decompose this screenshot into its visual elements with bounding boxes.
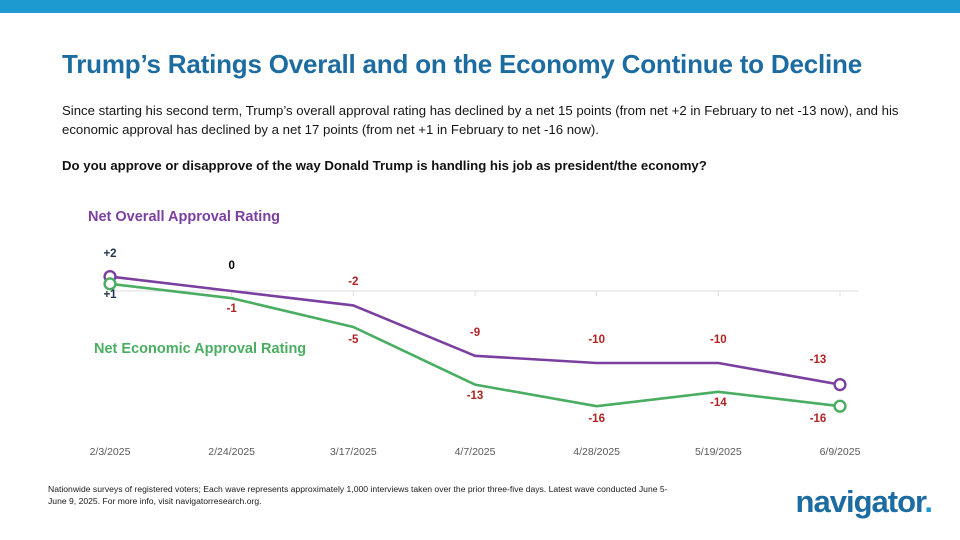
- x-axis-label: 4/28/2025: [573, 446, 620, 458]
- x-axis-label: 5/19/2025: [695, 446, 742, 458]
- page-title: Trump’s Ratings Overall and on the Econo…: [62, 50, 942, 80]
- series-label-overall: Net Overall Approval Rating: [88, 209, 280, 225]
- data-label: -13: [810, 354, 827, 366]
- data-label: -10: [710, 334, 727, 346]
- data-label: +1: [103, 289, 116, 301]
- x-axis-label: 2/24/2025: [208, 446, 255, 458]
- data-label: -5: [348, 334, 358, 346]
- data-label: -13: [467, 390, 484, 402]
- top-banner: [0, 0, 960, 13]
- data-point-marker: [105, 278, 116, 289]
- axis-tick-group: [110, 291, 840, 296]
- navigator-logo: navigator.: [796, 484, 932, 520]
- logo-dot: .: [924, 484, 932, 519]
- x-axis-label: 4/7/2025: [455, 446, 496, 458]
- logo-wordmark: navigator: [796, 484, 925, 519]
- data-label: 0: [228, 260, 234, 272]
- subtitle-text: Since starting his second term, Trump’s …: [62, 102, 912, 139]
- data-label: -9: [470, 327, 480, 339]
- data-label: -16: [810, 413, 827, 425]
- slide-root: Trump’s Ratings Overall and on the Econo…: [0, 0, 960, 540]
- x-axis-label: 3/17/2025: [330, 446, 377, 458]
- data-point-marker: [835, 379, 846, 390]
- footnote-text: Nationwide surveys of registered voters;…: [48, 483, 668, 508]
- data-label: -10: [588, 334, 605, 346]
- data-label: -2: [348, 276, 358, 288]
- data-label: +2: [103, 248, 116, 260]
- x-axis-label: 2/3/2025: [90, 446, 131, 458]
- data-label: -14: [710, 397, 727, 409]
- series-label-economic: Net Economic Approval Rating: [94, 341, 306, 357]
- line-chart: Net Overall Approval Rating Net Economic…: [60, 195, 900, 470]
- survey-question: Do you approve or disapprove of the way …: [62, 157, 912, 175]
- data-point-marker: [835, 401, 846, 412]
- x-axis-label: 6/9/2025: [820, 446, 861, 458]
- data-label: -16: [588, 413, 605, 425]
- data-label: -1: [227, 303, 237, 315]
